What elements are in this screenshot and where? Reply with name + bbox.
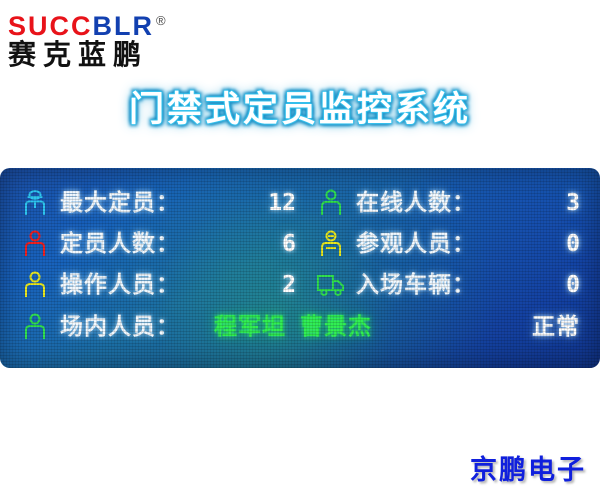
led-label: 定员人数： [60,230,180,258]
company-logo-latin-blue: BLR [93,11,155,41]
person-green-icon [314,187,348,219]
led-value: 0 [566,230,586,258]
onsite-name: 曹景杰 [300,314,372,340]
company-logo-latin: SUCCBLR® [8,6,238,36]
led-label: 场内人员： [60,313,180,341]
led-value: 12 [268,189,314,217]
led-row: 操作人员： 2 入场车辆： 0 [18,264,586,305]
led-field-visitor-count: 参观人员： 0 [314,223,586,264]
page-title: 门禁式定员监控系统 [0,86,600,134]
led-value: 0 [566,271,586,299]
led-row: 定员人数： 6 参观人员： 0 [18,223,586,264]
footer-company-logo: 京鹏电子 [470,454,586,488]
led-display-content: 最大定员： 12 在线人数： 3 [18,182,586,356]
person-yellow-icon [18,269,52,301]
led-field-onsite-personnel: 场内人员： 程军坦曹景杰 正常 [18,305,586,349]
led-label: 参观人员： [356,230,476,258]
led-field-max-capacity: 最大定员： 12 [18,182,314,223]
person-green-icon [18,311,52,343]
led-row: 最大定员： 12 在线人数： 3 [18,182,586,223]
led-label: 入场车辆： [356,271,476,299]
led-display-panel: 最大定员： 12 在线人数： 3 [0,168,600,368]
led-field-operator-count: 操作人员： 2 [18,264,314,305]
led-label: 操作人员： [60,271,180,299]
led-value: 6 [282,230,314,258]
company-logo-chinese: 赛克蓝鹏 [8,37,238,73]
led-value: 3 [566,189,586,217]
visitor-yellow-icon [314,228,348,260]
onsite-personnel-names: 程军坦曹景杰 [214,313,372,341]
registered-trademark-icon: ® [156,13,166,28]
led-field-online-count: 在线人数： 3 [314,182,586,223]
led-label: 在线人数： [356,189,476,217]
led-field-vehicle-count: 入场车辆： 0 [314,264,586,305]
person-cap-icon [18,187,52,219]
company-logo: SUCCBLR® 赛克蓝鹏 [8,6,238,76]
led-label: 最大定员： [60,189,180,217]
truck-green-icon [314,269,348,301]
onsite-name: 程军坦 [214,314,286,340]
led-value: 2 [282,271,314,299]
status-badge: 正常 [532,313,586,341]
person-red-icon [18,228,52,260]
led-field-assigned-count: 定员人数： 6 [18,223,314,264]
company-logo-latin-red: SUCC [8,11,93,41]
